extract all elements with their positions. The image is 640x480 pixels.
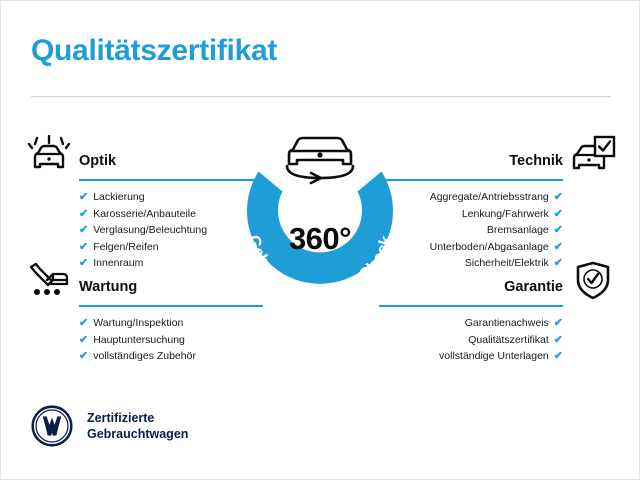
list-item: Unterboden/Abgasanlage✔ [430, 239, 563, 256]
check-icon: ✔ [79, 191, 88, 203]
section-wartung: Wartung ✔Wartung/Inspektion ✔Hauptunters… [23, 259, 263, 305]
car-front-rotation-icon [287, 138, 353, 183]
list-item: Qualitätszertifikat✔ [439, 332, 563, 349]
section-header: Technik [379, 133, 619, 179]
section-header: Optik [23, 133, 263, 179]
check-icon: ✔ [79, 208, 88, 220]
check-icon: ✔ [554, 208, 563, 220]
list-item: ✔Wartung/Inspektion [79, 315, 196, 332]
360-check-badge: Gebrauchtwagen-Check 360° [229, 121, 411, 306]
certificate-page: Qualitätszertifikat Optik [0, 0, 640, 480]
footer-line-1: Zertifizierte [87, 410, 188, 426]
badge-center-text: 360° [229, 221, 411, 257]
checklist-wartung: ✔Wartung/Inspektion ✔Hauptuntersuchung ✔… [79, 315, 196, 365]
check-icon: ✔ [554, 350, 563, 362]
list-item: Garantienachweis✔ [439, 315, 563, 332]
list-item-label: Unterboden/Abgasanlage [430, 241, 549, 253]
check-icon: ✔ [554, 241, 563, 253]
car-checkbox-icon [567, 133, 619, 177]
list-item: Bremsanlage✔ [430, 222, 563, 239]
section-technik: Technik Aggregate/Antriebsstrang✔ Lenkun… [379, 133, 619, 179]
list-item-label: Bremsanlage [487, 224, 549, 236]
list-item: ✔Karosserie/Anbauteile [79, 206, 207, 223]
list-item-label: Felgen/Reifen [93, 241, 158, 253]
check-icon: ✔ [79, 350, 88, 362]
list-item-label: Karosserie/Anbauteile [93, 208, 196, 220]
list-item-label: Verglasung/Beleuchtung [93, 224, 207, 236]
footer-brand: Zertifizierte Gebrauchtwagen [31, 405, 188, 447]
check-icon: ✔ [79, 317, 88, 329]
check-icon: ✔ [79, 241, 88, 253]
list-item: ✔vollständiges Zubehör [79, 348, 196, 365]
section-optik: Optik ✔Lackierung ✔Karosserie/Anbauteile… [23, 133, 263, 179]
list-item: ✔Felgen/Reifen [79, 239, 207, 256]
list-item-label: Lenkung/Fahrwerk [462, 208, 549, 220]
list-item: ✔Lackierung [79, 189, 207, 206]
check-icon: ✔ [554, 334, 563, 346]
header-divider [31, 96, 611, 97]
list-item-label: Aggregate/Antriebsstrang [430, 191, 549, 203]
list-item: ✔Hauptuntersuchung [79, 332, 196, 349]
check-icon: ✔ [79, 334, 88, 346]
list-item: vollständige Unterlagen✔ [439, 348, 563, 365]
check-icon: ✔ [554, 317, 563, 329]
section-title: Garantie [504, 279, 563, 295]
section-header: Wartung [23, 259, 263, 305]
section-garantie: Garantie Garantienachweis✔ Qualitätszert… [379, 259, 619, 305]
section-title: Wartung [79, 279, 137, 295]
volkswagen-logo [31, 405, 73, 447]
section-header: Garantie [379, 259, 619, 305]
list-item-label: Lackierung [93, 191, 144, 203]
list-item-label: Wartung/Inspektion [93, 317, 183, 329]
list-item: ✔Verglasung/Beleuchtung [79, 222, 207, 239]
list-item-label: Qualitätszertifikat [468, 334, 549, 346]
section-title: Technik [509, 153, 563, 169]
list-item-label: Garantienachweis [465, 317, 549, 329]
page-title: Qualitätszertifikat [31, 34, 277, 68]
wrench-car-service-icon [23, 259, 75, 303]
list-item-label: Hauptuntersuchung [93, 334, 185, 346]
list-item-label: vollständiges Zubehör [93, 350, 196, 362]
checklist-garantie: Garantienachweis✔ Qualitätszertifikat✔ v… [439, 315, 563, 365]
footer-text: Zertifizierte Gebrauchtwagen [87, 410, 188, 442]
section-title: Optik [79, 153, 116, 169]
footer-line-2: Gebrauchtwagen [87, 426, 188, 442]
check-icon: ✔ [554, 224, 563, 236]
list-item: Aggregate/Antriebsstrang✔ [430, 189, 563, 206]
car-shine-icon [23, 133, 75, 177]
check-icon: ✔ [554, 191, 563, 203]
check-icon: ✔ [79, 224, 88, 236]
list-item: Lenkung/Fahrwerk✔ [430, 206, 563, 223]
list-item-label: vollständige Unterlagen [439, 350, 549, 362]
shield-check-icon [567, 259, 619, 303]
